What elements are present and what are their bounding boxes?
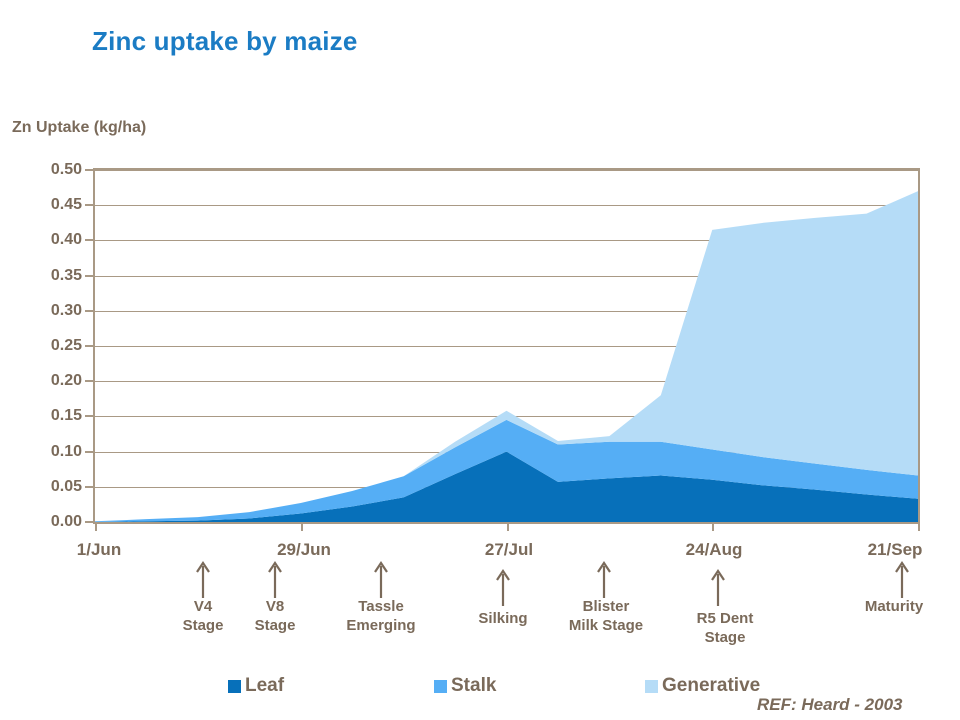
- y-axis-tick-label: 0.45: [20, 196, 82, 214]
- stage-arrow-icon: [265, 558, 285, 600]
- y-axis-tick-label: 0.20: [20, 372, 82, 390]
- stage-annotation-label: R5 Dent Stage: [697, 610, 754, 648]
- y-axis-tick-label: 0.30: [20, 302, 82, 320]
- legend-item-generative[interactable]: Generative: [645, 675, 760, 697]
- chart-container: Zinc uptake by maize Zn Uptake (kg/ha) 0…: [0, 0, 960, 720]
- x-axis-tick-label: 21/Sep: [868, 540, 923, 560]
- legend-label: Stalk: [451, 675, 496, 697]
- x-axis-tick-mark: [712, 522, 714, 531]
- chart-title: Zinc uptake by maize: [92, 26, 358, 57]
- x-axis-tick-label: 24/Aug: [686, 540, 743, 560]
- y-axis-tick-label: 0.40: [20, 231, 82, 249]
- x-axis-tick-label: 1/Jun: [77, 540, 121, 560]
- y-axis-tick-label: 0.35: [20, 267, 82, 285]
- reference-note: REF: Heard - 2003: [757, 695, 903, 715]
- x-axis-tick-mark: [95, 522, 97, 531]
- stage-arrow-icon: [708, 566, 728, 608]
- stage-arrow-icon: [493, 566, 513, 608]
- plot-area: [93, 168, 920, 524]
- stage-arrow-icon: [193, 558, 213, 600]
- stage-arrow-icon: [892, 558, 912, 600]
- legend-swatch-icon: [228, 680, 241, 693]
- y-axis-tick-label: 0.50: [20, 161, 82, 179]
- legend-label: Generative: [662, 675, 760, 697]
- y-axis-tick-label: 0.10: [20, 443, 82, 461]
- x-axis-tick-mark: [507, 522, 509, 531]
- stage-annotation-label: Tassle Emerging: [346, 598, 415, 636]
- legend-item-leaf[interactable]: Leaf: [228, 675, 284, 697]
- x-axis-tick-label: 29/Jun: [277, 540, 331, 560]
- y-axis-title: Zn Uptake (kg/ha): [12, 119, 146, 137]
- legend-item-stalk[interactable]: Stalk: [434, 675, 496, 697]
- y-axis-tick-label: 0.05: [20, 478, 82, 496]
- x-axis-tick-mark: [918, 522, 920, 531]
- y-axis-tick-label: 0.25: [20, 337, 82, 355]
- x-axis-tick-mark: [301, 522, 303, 531]
- stage-annotation-label: Maturity: [865, 598, 923, 617]
- stage-annotation-label: Silking: [478, 610, 527, 629]
- y-axis-tick-label: 0.15: [20, 407, 82, 425]
- x-axis-tick-label: 27/Jul: [485, 540, 533, 560]
- legend-swatch-icon: [645, 680, 658, 693]
- stacked-area-series-group: [95, 170, 918, 522]
- legend-swatch-icon: [434, 680, 447, 693]
- legend-label: Leaf: [245, 675, 284, 697]
- stage-annotation-label: V4 Stage: [183, 598, 224, 636]
- stage-annotation-label: Blister Milk Stage: [569, 598, 643, 636]
- stage-annotation-label: V8 Stage: [255, 598, 296, 636]
- stage-arrow-icon: [371, 558, 391, 600]
- y-axis-tick-label: 0.00: [20, 513, 82, 531]
- stage-arrow-icon: [594, 558, 614, 600]
